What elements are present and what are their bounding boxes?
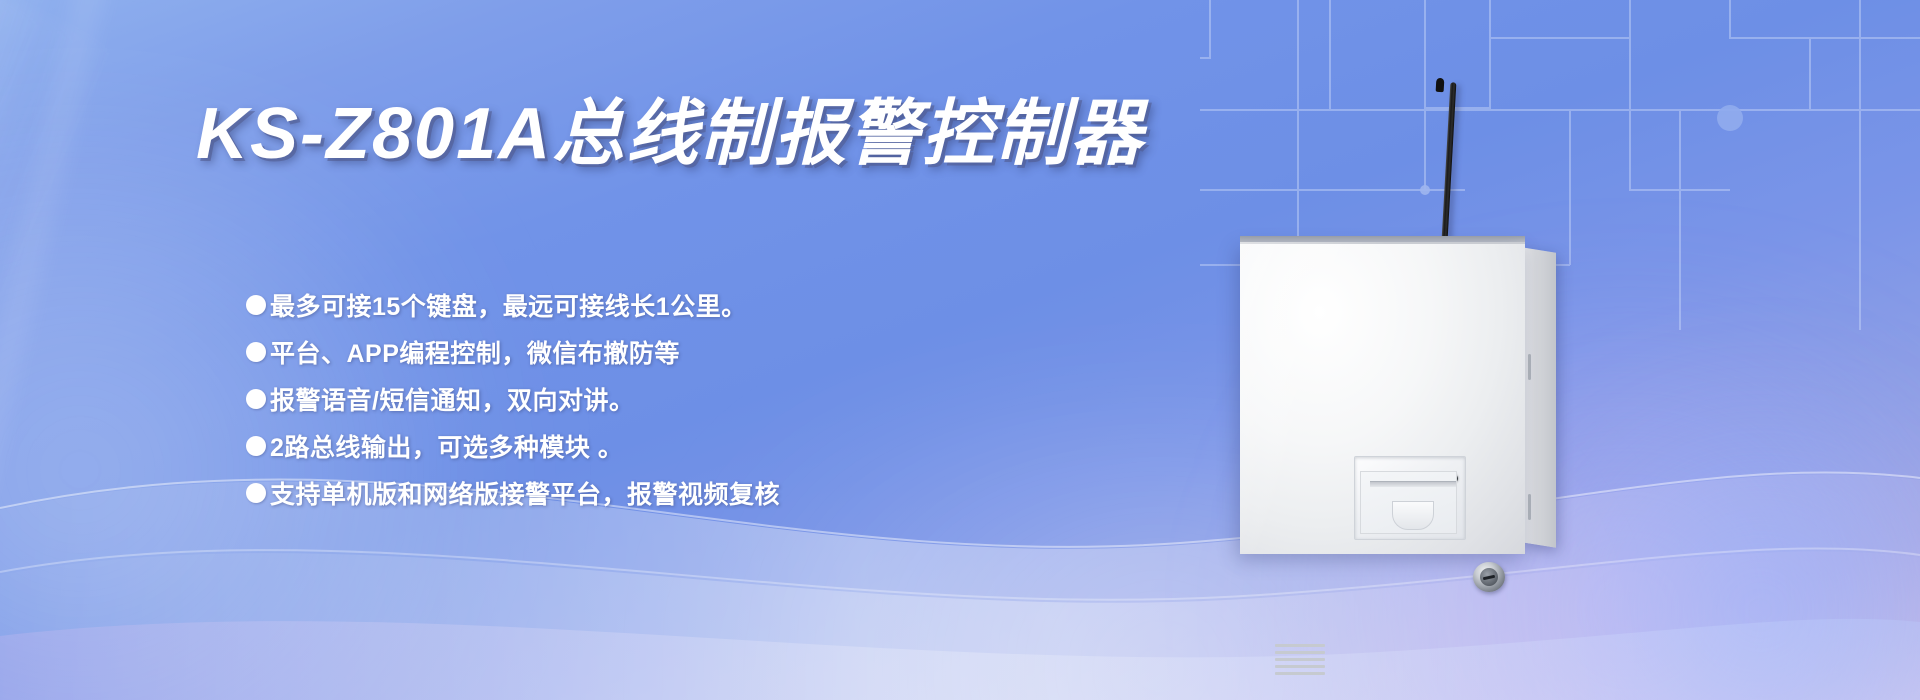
feature-text: 2路总线输出，可选多种模块 。: [270, 428, 623, 464]
page-title: KS-Z801A总线制报警控制器: [196, 74, 1144, 179]
keypad-pull-tab: [1392, 501, 1434, 530]
antenna-tip: [1436, 78, 1445, 92]
feature-text: 最多可接15个键盘，最远可接线长1公里。: [270, 287, 747, 323]
lock-keyway: [1483, 575, 1495, 580]
ventilation-slots: [1275, 644, 1325, 682]
list-item: 平台、APP编程控制，微信布撤防等: [246, 329, 1066, 374]
lock-core: [1480, 568, 1498, 586]
list-item: 支持单机版和网络版接警平台，报警视频复核: [246, 470, 1066, 515]
list-item: 2路总线输出，可选多种模块 。: [246, 423, 1066, 468]
light-sweep-a: [0, 0, 89, 700]
bullet-dot-icon: [246, 295, 266, 315]
bullet-dot-icon: [246, 389, 266, 409]
bullet-dot-icon: [246, 483, 266, 503]
vent-line: [1275, 644, 1325, 647]
product-banner: KS-Z801A总线制报警控制器 最多可接15个键盘，最远可接线长1公里。 平台…: [0, 0, 1920, 700]
vent-line: [1275, 672, 1325, 675]
hinge-lower: [1528, 494, 1531, 520]
list-item: 最多可接15个键盘，最远可接线长1公里。: [246, 282, 1066, 327]
keypad-inner-plate: [1360, 471, 1457, 534]
light-sweep-wide: [0, 0, 133, 700]
keypad-recess-panel: [1354, 456, 1466, 540]
hinge-upper: [1528, 354, 1531, 380]
product-image-alarm-control-panel: [1230, 60, 1650, 580]
bullet-dot-icon: [246, 342, 266, 362]
list-item: 报警语音/短信通知，双向对讲。: [246, 376, 1066, 421]
feature-text: 报警语音/短信通知，双向对讲。: [270, 381, 634, 417]
keypad-slot: [1370, 481, 1456, 487]
light-sweep-c: [0, 0, 174, 700]
lock-cylinder-icon: [1473, 562, 1505, 592]
vent-line: [1275, 651, 1325, 654]
light-sweep-b: [0, 0, 47, 700]
feature-text: 平台、APP编程控制，微信布撤防等: [270, 334, 680, 370]
bullet-dot-icon: [246, 436, 266, 456]
enclosure-front-door: [1240, 242, 1525, 554]
vent-line: [1275, 665, 1325, 668]
feature-list: 最多可接15个键盘，最远可接线长1公里。 平台、APP编程控制，微信布撤防等 报…: [246, 282, 1066, 517]
vent-line: [1275, 658, 1325, 661]
feature-text: 支持单机版和网络版接警平台，报警视频复核: [270, 475, 780, 511]
circuit-node-dot: [1717, 105, 1743, 131]
